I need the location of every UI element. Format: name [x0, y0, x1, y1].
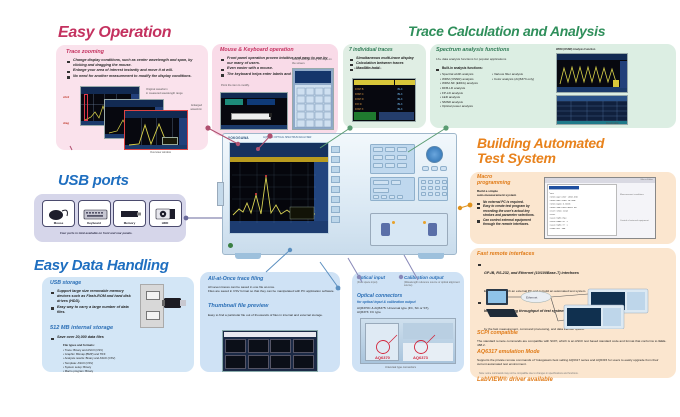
instrument-foot-left [235, 253, 261, 259]
note-subtraction: subtraction between traces [354, 68, 381, 70]
brochure-page: Easy Operation Trace zooming Change disp… [0, 0, 680, 417]
body-scpi-compatible: The standard remote commands are compati… [477, 339, 667, 347]
instrument-brand: YOKOGAWA [228, 136, 249, 140]
sub-calibration-output: (Wavelength reference source or optical … [404, 281, 462, 287]
label-click: click [63, 95, 69, 99]
label-drag: drag [63, 121, 69, 125]
list-analysis-col2: Various filter analysis Color analysis (… [492, 72, 534, 81]
caption-wdm-analysis: WDM (OSNR) Analysis Function [556, 48, 595, 51]
list-item: Spectral width analysis [440, 72, 478, 77]
instrument-softkey[interactable] [331, 206, 340, 213]
heading-aq6317-emulation: AQ6317 emulation Mode [477, 349, 540, 355]
label-macro-editor: Macro Editor [641, 179, 653, 181]
list-item: Can control external equipment through t… [477, 218, 539, 227]
svg-text:AQ6373: AQ6373 [413, 355, 429, 360]
heading-spectrum-analysis: Spectrum analysis functions [436, 47, 509, 53]
section-title-easy-data-handling: Easy Data Handling [34, 257, 169, 274]
caption-result-table: Result table [606, 122, 619, 125]
usb-icon-label: Mouse [43, 221, 74, 225]
svg-text:DISP:B: DISP:B [355, 87, 364, 91]
screenshot-enlarged-waveform [124, 110, 188, 150]
heading-macro-programming: Macro programming [477, 175, 510, 186]
note-usb-ports: Four ports in total available on front a… [60, 231, 132, 235]
instrument-power-led [228, 243, 233, 248]
usb-icon-row: Mouse Keyboard Memory [42, 200, 182, 227]
body-aq6317-emulation: Supports the private remote commands of … [477, 358, 667, 366]
list-item: Optical power analysis [440, 104, 478, 109]
svg-text:DISP:D: DISP:D [355, 97, 364, 101]
note-aq6317-emulation: Note: some commands may not be compatibl… [479, 372, 667, 375]
svg-text:AQ6370: AQ6370 [375, 355, 391, 360]
heading-optical-connectors: Optical connectors [357, 293, 402, 299]
label-measurement-conditions: Measurement conditions [620, 194, 654, 196]
list-item: Analysis results: Binary and ASCII (CSV) [63, 356, 115, 360]
text-connector-types-2: AQ6373: FC type [357, 310, 381, 314]
caption-overview-window: Overview window [150, 151, 171, 155]
screenshot-thumbnail-browser [222, 330, 318, 372]
svg-text:/BLK: /BLK [397, 97, 403, 101]
instrument-softkey[interactable] [331, 166, 340, 173]
optical-input-connector[interactable] [381, 223, 390, 236]
caption-enlarged-waveform: Enlarged waveform [168, 104, 202, 111]
usb-icon-keyboard: Keyboard [78, 200, 111, 227]
usb-icon-label: Keyboard [79, 221, 110, 225]
heading-mouse-keyboard: Mouse & Keyboard operation [220, 47, 294, 53]
lead-macro-programming: Build a simple auto-measurement system [477, 189, 516, 197]
instrument-softkey[interactable] [331, 186, 340, 193]
sub-optical-connectors: for optical input & calibration output [357, 300, 416, 304]
svg-text:/BLK: /BLK [397, 92, 403, 96]
instrument-photo: YOKOGAWA AQ6370C OPTICAL SPECTRUM ANALYZ… [222, 133, 457, 255]
instrument-softkey[interactable] [331, 156, 340, 163]
list-analysis-col1: Spectral width analysis WDM (OSNR) analy… [440, 72, 478, 109]
screenshot-macro-editor: *RST:SENS:WAV:CENT 1550.0nm :SENS:WAV:SP… [544, 177, 656, 239]
heading-trace-zooming: Trace zooming [66, 49, 104, 55]
list-item: No need for another measurement to modif… [67, 74, 203, 79]
list-builtin-label: Built-in analysis functions: [436, 66, 483, 70]
section-title-trace-calculation: Trace Calculation and Analysis [408, 23, 605, 39]
heading-thumbnail-preview: Thumbnail file preview [208, 303, 268, 309]
list-item: Change display conditions, such as cente… [67, 58, 203, 68]
photo-connectors: AQ6370 AQ6373 [360, 318, 456, 364]
section-title-easy-operation: Easy Operation [58, 24, 171, 42]
usb-icon-label: Memory [114, 221, 145, 225]
label-file-types: File types and formats: [63, 343, 95, 347]
section-title-building-automated: Building Automated Test System [477, 136, 604, 165]
screenshot-result-table [556, 95, 628, 125]
calibration-output-connector[interactable] [428, 223, 437, 236]
screenshot-onscreen-keypad [292, 68, 334, 130]
heading-7-traces: 7 individual traces [349, 47, 393, 53]
list-trace-zooming: Change display conditions, such as cente… [67, 58, 203, 79]
screenshot-trace-list: DISP:BDISP:C DISP:DFIX:D DISP:X /BLK/BLK… [352, 78, 416, 122]
svg-text:DISP:X: DISP:X [355, 107, 364, 111]
svg-text:/BLK: /BLK [397, 107, 403, 111]
body-all-at-once: All seven traces can be saved in one fil… [208, 285, 336, 293]
diagram-remote-system: Ethernet [484, 285, 664, 329]
body-thumbnail-preview: Easy to find a particular file out of th… [208, 313, 336, 317]
screenshot-mouse-operation [220, 92, 288, 130]
heading-usb-storage: USB storage [50, 280, 81, 286]
remote-bullet-bold: GP-IB, RS-232, and Ethernet (10/100Base-… [484, 271, 579, 275]
usb-icon-label: HDD [150, 221, 181, 225]
sub-optical-input: (Free space input) [357, 281, 377, 284]
svg-text:/BLK: /BLK [397, 87, 403, 91]
svg-text:Ethernet: Ethernet [526, 296, 538, 300]
heading-scpi-compatible: SCPI compatible [477, 330, 518, 336]
usb-icon-mouse: Mouse [42, 200, 75, 227]
svg-text:DISP:C: DISP:C [355, 92, 364, 96]
usb-icon-hdd: HDD [149, 200, 182, 227]
list-item: Color analysis (AQ6373 only) [492, 77, 534, 82]
list-item: Support large size removable memory devi… [51, 289, 137, 305]
heading-fast-remote-interfaces: Fast remote interfaces [477, 251, 535, 257]
instrument-softkey[interactable] [331, 196, 340, 203]
svg-text:FIX:D: FIX:D [355, 102, 362, 106]
photo-usb-memory-stick [160, 290, 190, 320]
list-item: Easy to create test program by recording… [477, 204, 539, 217]
heading-all-at-once: All-at-Once trace filing [208, 276, 263, 282]
instrument-usb-slot[interactable] [217, 182, 224, 206]
list-internal-storage: Save over 20,000 data files [51, 335, 151, 340]
list-macro-programming: No external PC is required. Easy to crea… [477, 200, 539, 227]
instrument-softkey[interactable] [331, 176, 340, 183]
list-item: Built-in analysis functions: [436, 66, 483, 70]
list-usb-storage: Support large size removable memory devi… [51, 289, 137, 315]
heading-labview-driver: LabVIEW® driver available [477, 377, 553, 383]
caption-original-waveform: Original waveform in measured wavelength… [146, 88, 200, 95]
instrument-connector-bay [370, 213, 448, 246]
caption-universal-connectors: Universal type connectors [385, 366, 416, 370]
caption-point-item: Point the item to modify. [221, 84, 250, 88]
instrument-model: AQ6370C OPTICAL SPECTRUM ANALYZER [263, 136, 311, 139]
instrument-keypad-area[interactable] [370, 144, 450, 202]
instrument-softkey[interactable] [331, 146, 340, 153]
usb-icon-memory: Memory [113, 200, 146, 227]
screenshot-wdm-analysis [556, 53, 628, 93]
list-file-types: Trace: Binary and ASCII (CSV) Graphic: B… [63, 348, 115, 373]
list-item: Easy way to carry a large number of data… [51, 305, 137, 315]
heading-internal-storage: 512 MB internal storage [50, 325, 113, 331]
caption-modify-settings: Modify settings using the keys on the sc… [292, 58, 336, 65]
list-item: Save over 20,000 data files [51, 335, 151, 340]
label-control-external: Control of external equipment [620, 220, 654, 222]
heading-optical-input: Optical input [357, 275, 385, 280]
svg-text::TRAC:ACT TRA: :TRAC:ACT TRA [549, 227, 566, 230]
instrument-display [229, 142, 329, 234]
lead-spectrum-analysis: 13+ data analysis functions for popular … [436, 57, 506, 61]
svg-text:/BLK: /BLK [397, 102, 403, 106]
heading-calibration-output: Calibration output [404, 275, 444, 280]
list-item: Macro program: Binary [63, 369, 115, 373]
section-title-usb-ports: USB ports [58, 172, 129, 189]
instrument-softkey[interactable] [331, 216, 340, 223]
instrument-foot-right [418, 253, 444, 259]
